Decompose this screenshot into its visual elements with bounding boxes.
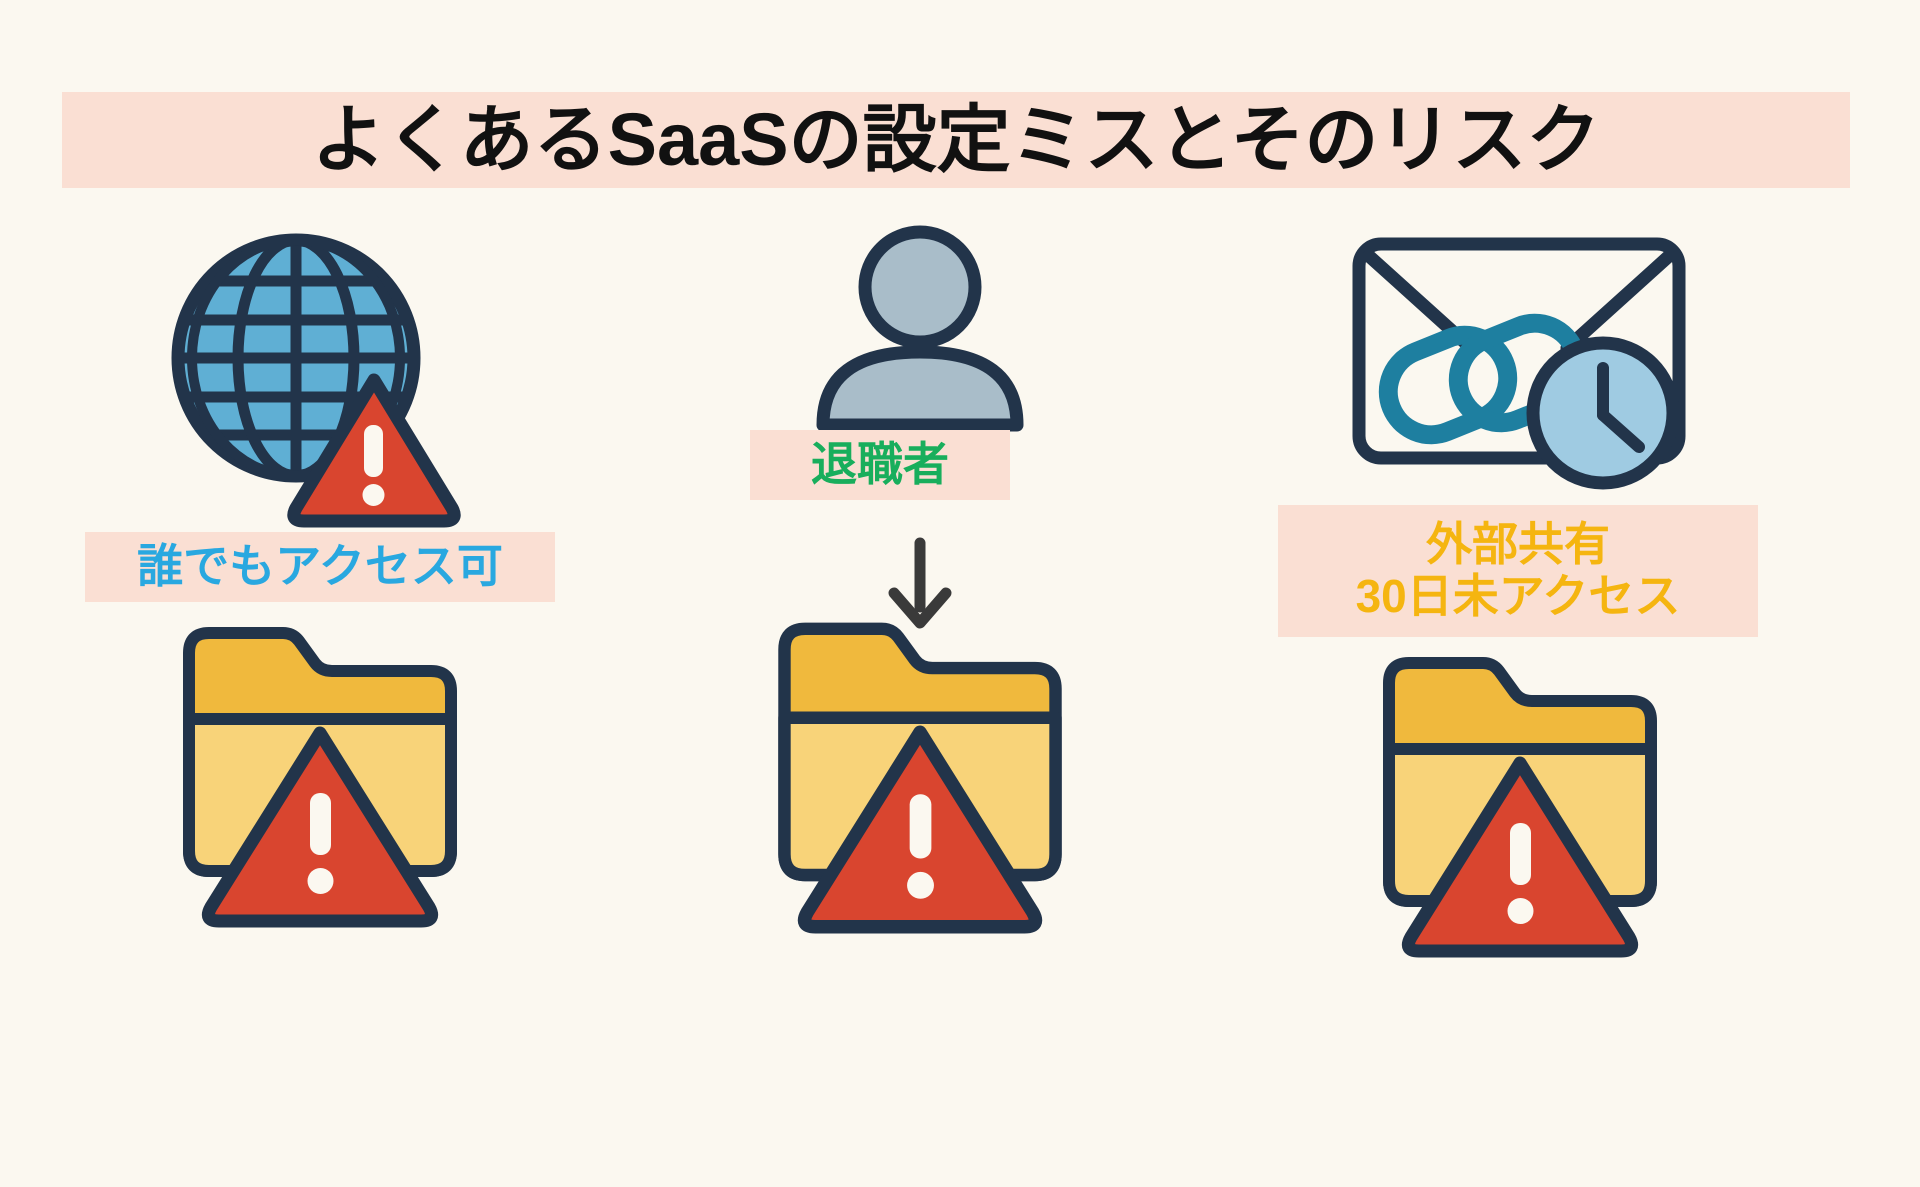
person-icon: [805, 225, 1035, 445]
infographic-canvas: よくあるSaaSの設定ミスとそのリスク: [0, 0, 1920, 1187]
globe-warning-icon: [160, 225, 460, 515]
envelope-link-clock-icon: [1345, 230, 1715, 480]
column-anyone-access: 誰でもアクセス可: [40, 225, 600, 1165]
caption-former-employee-text: 退職者: [811, 439, 949, 491]
icon-zone-envelope: [1240, 225, 1800, 525]
page-title: よくあるSaaSの設定ミスとそのリスク: [312, 103, 1601, 177]
caption-former-employee: 退職者: [750, 430, 1010, 500]
folder-warning-icon: [1375, 645, 1665, 925]
folder-zone-1: [40, 615, 600, 915]
folder-zone-3: [1240, 645, 1800, 945]
column-external-share: 外部共有 30日未アクセス: [1240, 225, 1800, 1165]
clock-icon: [1533, 343, 1673, 483]
folder-warning-icon: [770, 610, 1070, 900]
caption-anyone-access-text: 誰でもアクセス可: [137, 541, 503, 593]
caption-external-share-text: 外部共有 30日未アクセス: [1356, 519, 1681, 622]
column-former-employee: 退職者: [640, 225, 1200, 1165]
folder-zone-2: [640, 610, 1200, 910]
title-banner: よくあるSaaSの設定ミスとそのリスク: [62, 92, 1850, 188]
caption-external-share: 外部共有 30日未アクセス: [1278, 505, 1758, 637]
caption-anyone-access: 誰でもアクセス可: [85, 532, 555, 602]
folder-warning-icon: [175, 615, 465, 895]
icon-zone-globe: [40, 225, 600, 525]
